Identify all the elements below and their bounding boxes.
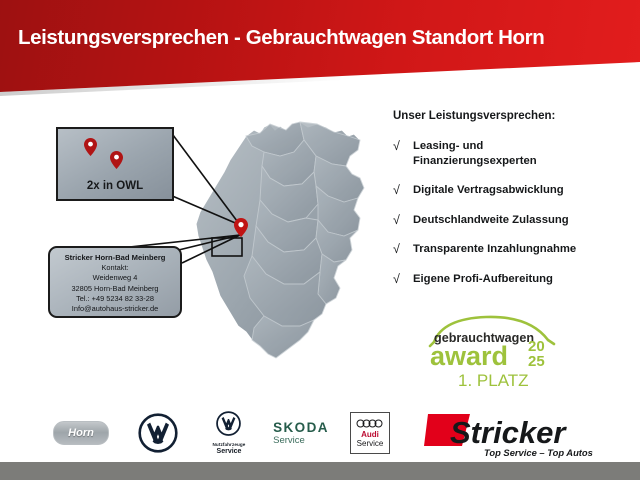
checklist-item: √ Leasing- undFinanzierungsexperten	[393, 139, 633, 168]
owl-callout-box: 2x in OWL	[56, 127, 174, 201]
address-callout-box: Stricker Horn-Bad Meinberg Kontakt: Weid…	[48, 246, 182, 318]
logo-vw-nutzfahrzeuge: Nutzfahrzeuge Service	[198, 404, 260, 462]
checklist-item-label: Eigene Profi-Aufbereitung	[413, 272, 553, 287]
address-contact-label: Kontakt:	[50, 263, 180, 273]
award-year-bottom: 25	[528, 353, 545, 370]
skoda-name: SKODA	[273, 421, 329, 435]
checklist-item: √ Deutschlandweite Zulassung	[393, 213, 633, 228]
check-icon: √	[393, 183, 413, 197]
checklist-item-label: Deutschlandweite Zulassung	[413, 213, 569, 228]
logo-audi-service: Audi Service	[345, 404, 395, 462]
logo-stricker: Stricker Top Service – Top Autos	[424, 406, 624, 460]
logo-volkswagen	[130, 404, 186, 462]
owl-pin-2-icon	[110, 151, 123, 169]
vw-roundel-icon	[138, 413, 178, 453]
checklist-item-label: Leasing- undFinanzierungsexperten	[413, 139, 537, 168]
audi-name: Audi	[361, 430, 379, 439]
map-location-pin	[234, 218, 248, 237]
checklist-item: √ Eigene Profi-Aufbereitung	[393, 272, 633, 287]
partner-logo-bar: Horn Nutzfahrzeuge Service SKO	[0, 404, 640, 462]
germany-map	[176, 100, 394, 400]
page-title: Leistungsversprechen - Gebrauchtwagen St…	[18, 26, 628, 50]
audi-rings-icon	[356, 419, 384, 428]
vw-commercial-sub1: Nutzfahrzeuge	[213, 442, 246, 447]
logo-skoda-service: SKODA Service	[268, 404, 334, 462]
checklist-item-label: Transparente Inzahlungnahme	[413, 242, 576, 257]
award-word-main: award	[430, 341, 508, 371]
check-icon: √	[393, 272, 413, 286]
owl-pin-1-icon	[84, 138, 97, 156]
address-name: Stricker Horn-Bad Meinberg	[50, 253, 180, 263]
checklist-item: √ Transparente Inzahlungnahme	[393, 242, 633, 257]
address-phone: Tel.: +49 5234 82 33-28	[50, 294, 180, 304]
skoda-sub: Service	[273, 435, 329, 446]
stricker-slogan: Top Service – Top Autos	[484, 447, 593, 458]
audi-sub: Service	[357, 439, 384, 448]
vw-commercial-sub2: Service	[213, 448, 246, 455]
check-icon: √	[393, 213, 413, 227]
award-badge: gebrauchtwagen award 20 25 1. PLATZ	[424, 308, 564, 390]
horn-label: Horn	[53, 421, 109, 445]
award-rank: 1. PLATZ	[458, 371, 529, 390]
vw-roundel-icon	[216, 411, 241, 436]
address-city: 32805 Horn-Bad Meinberg	[50, 284, 180, 294]
address-email: Info@autohaus-stricker.de	[50, 304, 180, 314]
slide-canvas: Leistungsversprechen - Gebrauchtwagen St…	[0, 0, 640, 480]
footer-bar	[0, 462, 640, 480]
checklist-heading: Unser Leistungsversprechen:	[393, 110, 633, 122]
checklist-item-label: Digitale Vertragsabwicklung	[413, 183, 564, 198]
checklist-item: √ Digitale Vertragsabwicklung	[393, 183, 633, 198]
owl-label: 2x in OWL	[58, 180, 172, 192]
benefits-checklist: Unser Leistungsversprechen: √ Leasing- u…	[393, 110, 633, 301]
check-icon: √	[393, 139, 413, 153]
stricker-name: Stricker	[450, 415, 567, 450]
check-icon: √	[393, 242, 413, 256]
logo-horn: Horn	[48, 404, 114, 462]
address-street: Weidenweg 4	[50, 273, 180, 283]
